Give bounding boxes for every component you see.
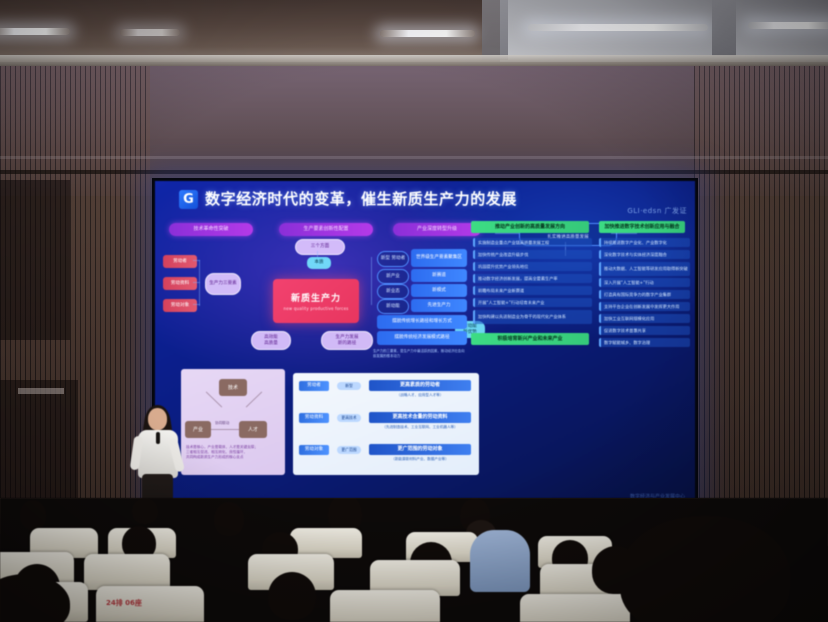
chair-r3-c3 <box>330 590 440 622</box>
core-concept-box: 新质生产力 new quality productive forces <box>273 279 359 323</box>
left-node-1: 劳动资料 <box>163 277 197 290</box>
pill-0: 技术革命性突破 <box>169 223 253 236</box>
audience-shoulder-blue <box>470 530 530 592</box>
mid-bus <box>371 257 372 305</box>
wall-trim-upper <box>0 170 828 174</box>
left-lead-1 <box>193 282 200 283</box>
mid-link-node: 本质 <box>307 257 331 269</box>
column-1-item-6: 加快工业互联网规模化应用 <box>599 314 690 323</box>
column-1-item-8: 数字赋能城乡、数字治理 <box>599 338 690 347</box>
tri-node-talent: 人才 <box>239 421 267 438</box>
labor-tag-0: 劳动者 <box>299 381 329 391</box>
presenter-head <box>148 408 167 430</box>
left-lead-0 <box>193 260 200 261</box>
wall-panel-left-lower <box>0 380 78 500</box>
mid-wide-box-0: 摆脱传统增长路径和增长方式 <box>377 315 467 329</box>
tri-node-tech: 技术 <box>219 379 247 396</box>
left-node-0: 劳动者 <box>163 255 197 268</box>
ceiling-beam-2 <box>712 0 736 56</box>
labor-mid-0: 新型 <box>337 382 361 390</box>
triangle-caption: 技术是核心，产业是载体，人才是关键支撑； 三者相互促进、相互转化、良性循环， 共… <box>186 445 280 461</box>
top-node: 三个方面 <box>295 239 345 255</box>
brand-logo: GLI·edsn 广发证 <box>627 206 687 216</box>
ceiling-bright-section <box>500 0 828 62</box>
mid-caption: 生产力的三要素，是生产力中最活跃的因素，推动经济社会向前发展的根本动力 <box>373 349 465 359</box>
audience-head-far-1 <box>20 500 46 530</box>
ceiling-light-2 <box>120 29 180 36</box>
wall-panel-left <box>0 180 70 340</box>
audience-head-r2-2 <box>268 572 316 620</box>
mid-tag-1: 新产业 <box>377 269 409 284</box>
audience-head-far-3 <box>214 502 244 536</box>
column-1-header: 加快推进数字技术创新应用与融合 <box>599 221 685 233</box>
audience-head-far-2 <box>132 498 158 524</box>
pill-1: 生产要素创新性配置 <box>279 223 373 236</box>
flow-connector-h <box>495 233 519 234</box>
column-1-item-5: 支持平台企业在创新发展中发挥更大作用 <box>599 302 690 311</box>
presenter-microphone <box>156 432 160 444</box>
ceiling-light-5 <box>748 22 828 29</box>
labor-main-1: 更高技术含量的劳动资料 <box>369 412 471 423</box>
wall-placard <box>18 388 64 394</box>
labor-tag-2: 劳动对象 <box>299 445 329 455</box>
labor-main-2: 更广范围的劳动对象 <box>369 444 471 455</box>
mid-box-1: 新赛道 <box>411 269 467 282</box>
labor-rows-card: 劳动者 新型 更高素质的劳动者 （战略人才、应用型人才等） 劳动资料 更高技术 … <box>293 373 479 475</box>
conference-hall-photo: G 数字经济时代的变革，催生新质生产力的发展 GLI·edsn 广发证 技术革命… <box>0 0 828 622</box>
bottom-node-0: 高效能 高质量 <box>251 331 291 350</box>
column-1-item-7: 促进数字技术普惠共享 <box>599 326 690 335</box>
left-node-2: 劳动对象 <box>163 299 197 312</box>
labor-sub-0: （战略人才、应用型人才等） <box>369 393 471 398</box>
ceiling-light-3 <box>380 30 475 37</box>
mid-tag-2: 新业态 <box>377 284 409 299</box>
labor-main-0: 更高素质的劳动者 <box>369 380 471 391</box>
slide-header: G 数字经济时代的变革，催生新质生产力的发展 <box>155 185 695 215</box>
left-bus <box>199 260 200 306</box>
column-0-header: 推动产业创新的高质量发展方向 <box>471 221 589 233</box>
column-0-item-0: 实施制造业重点产业链高质量发展工程 <box>473 238 592 247</box>
mid-wide-box-1: 摆脱传统经济发展模式路径 <box>377 331 467 345</box>
column-0-item-6: 加快构建以先进制造业为骨干的现代化产业体系 <box>473 310 592 324</box>
column-0-item-2: 巩固提升优势产业领先地位 <box>473 262 592 271</box>
column-0-item-3: 推动数字经济创新发展，提高全要素生产率 <box>473 274 592 283</box>
seat-number-label: 24排 06座 <box>106 598 142 608</box>
bottom-node-1: 生产力发展 新的路径 <box>321 331 373 350</box>
pill-2: 产业深度转型升级 <box>393 223 481 236</box>
slide-surface: G 数字经济时代的变革，催生新质生产力的发展 GLI·edsn 广发证 技术革命… <box>155 181 695 506</box>
left-hub-node: 生产力三要素 <box>205 273 241 295</box>
left-lead-2 <box>193 304 200 305</box>
top-node-link <box>317 251 318 257</box>
audience-area: 24排 06座 <box>0 498 828 622</box>
tri-center-label: 协同联动 <box>215 421 229 426</box>
mid-box-0: 世界级生产要素聚集区 <box>411 249 467 267</box>
g-logo-icon: G <box>179 190 198 209</box>
mid-tag-3: 新动能 <box>377 299 409 314</box>
wall-slats-right <box>694 66 828 546</box>
column-1-item-3: 深入开展“人工智能+”行动 <box>599 278 690 287</box>
labor-mid-1: 更高技术 <box>337 414 361 422</box>
mid-box-2: 新模式 <box>411 284 467 297</box>
chair-r3-c4 <box>520 594 630 622</box>
labor-sub-1: （先进制造技术、工业互联网、工业机器人等） <box>369 425 471 430</box>
column-0-item-4: 前瞻布局未来产业新赛道 <box>473 286 592 295</box>
ceiling-light-1 <box>0 28 70 35</box>
tri-line-b <box>246 391 263 407</box>
triangle-card: 技术 产业 人才 协同联动 技术是核心，产业是载体，人才是关键支撑； 三者相互促… <box>181 369 285 475</box>
core-title-zh: 新质生产力 <box>291 291 341 304</box>
flow-connector-h2 <box>611 233 637 234</box>
mid-box-3: 先进生产力 <box>411 299 467 312</box>
column-3-header: 积极培育新兴产业和未来产业 <box>471 333 589 345</box>
ceiling-beam-1 <box>482 0 508 60</box>
labor-mid-2: 更广范围 <box>337 446 361 454</box>
column-1-item-2: 推动大数据、人工智能等研发应用取得新突破 <box>599 262 690 276</box>
core-title-en: new quality productive forces <box>283 306 348 311</box>
column-1-item-4: 打造具有国际竞争力的数字产业集群 <box>599 290 690 299</box>
audience-head-foreground <box>620 516 790 622</box>
tri-line-c <box>211 429 239 430</box>
labor-tag-1: 劳动资料 <box>299 413 329 423</box>
mid-tag-0: 新型 劳动者 <box>377 251 409 267</box>
projection-screen: G 数字经济时代的变革，催生新质生产力的发展 GLI·edsn 广发证 技术革命… <box>152 178 698 509</box>
column-1-item-0: 持续推进数字产业化、产业数字化 <box>599 238 690 247</box>
wall-trim-highlight <box>0 156 828 159</box>
column-1-item-1: 深化数字技术与实体经济深度融合 <box>599 250 690 259</box>
labor-sub-2: （新能源新材料产业、数据产业等） <box>369 457 471 462</box>
slide-title: 数字经济时代的变革，催生新质生产力的发展 <box>205 188 517 209</box>
ceiling-light-4 <box>528 24 708 31</box>
chair-r2-c2 <box>84 554 170 590</box>
column-0-item-1: 加快传统产业改造升级步伐 <box>473 250 592 259</box>
column-0-item-5: 开展“人工智能+”行动培育未来产业 <box>473 298 592 307</box>
